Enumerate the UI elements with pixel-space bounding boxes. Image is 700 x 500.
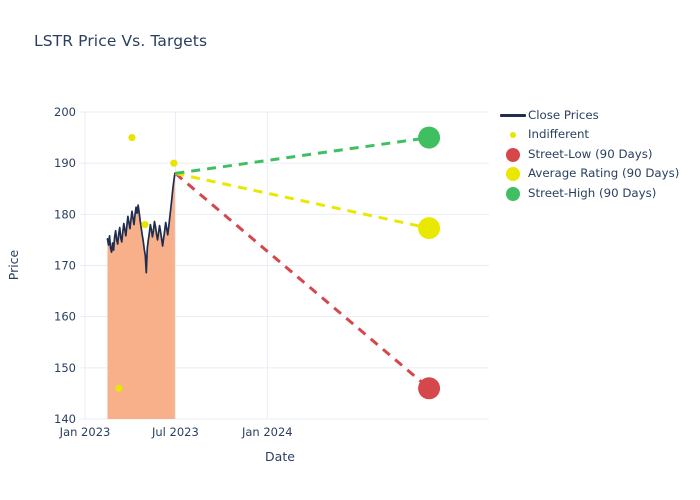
svg-text:170: 170	[54, 259, 76, 273]
legend-item-close-prices[interactable]: Close Prices	[498, 106, 698, 126]
target-trend-lines	[175, 138, 429, 389]
legend-dot-icon	[498, 167, 528, 181]
svg-text:160: 160	[54, 310, 76, 324]
legend-small-dot-icon	[498, 132, 528, 138]
target-markers	[418, 127, 440, 400]
chart-container: LSTR Price Vs. Targets 20019018017016015…	[0, 0, 700, 500]
svg-text:Jan 2023: Jan 2023	[59, 425, 111, 439]
chart-legend: Close Prices Indifferent Street-Low (90 …	[498, 106, 698, 204]
close-prices-area	[107, 173, 174, 419]
legend-label: Street-Low (90 Days)	[528, 149, 653, 161]
svg-text:190: 190	[54, 156, 76, 170]
svg-text:150: 150	[54, 361, 76, 375]
legend-label: Indifferent	[528, 129, 589, 141]
x-axis-title: Date	[265, 449, 295, 464]
svg-text:180: 180	[54, 207, 76, 221]
svg-text:140: 140	[54, 412, 76, 426]
legend-dot-icon	[498, 187, 528, 201]
y-axis-title: Price	[6, 249, 21, 280]
legend-label: Average Rating (90 Days)	[528, 168, 679, 180]
svg-text:Jul 2023: Jul 2023	[151, 425, 199, 439]
svg-text:200: 200	[54, 105, 76, 119]
legend-dot-icon	[498, 148, 528, 162]
y-axis-ticks: 200190180170160150140	[54, 105, 85, 426]
legend-item-average-rating[interactable]: Average Rating (90 Days)	[498, 165, 698, 185]
legend-label: Street-High (90 Days)	[528, 188, 656, 200]
legend-label: Close Prices	[528, 110, 599, 122]
legend-item-street-low[interactable]: Street-Low (90 Days)	[498, 145, 698, 165]
legend-line-icon	[498, 114, 528, 117]
plot-area: 200190180170160150140 Jan 2023Jul 2023Ja…	[0, 0, 700, 500]
svg-text:Jan 2024: Jan 2024	[241, 425, 293, 439]
legend-item-street-high[interactable]: Street-High (90 Days)	[498, 184, 698, 204]
x-axis-ticks: Jan 2023Jul 2023Jan 2024	[59, 425, 293, 439]
legend-item-indifferent[interactable]: Indifferent	[498, 126, 698, 146]
